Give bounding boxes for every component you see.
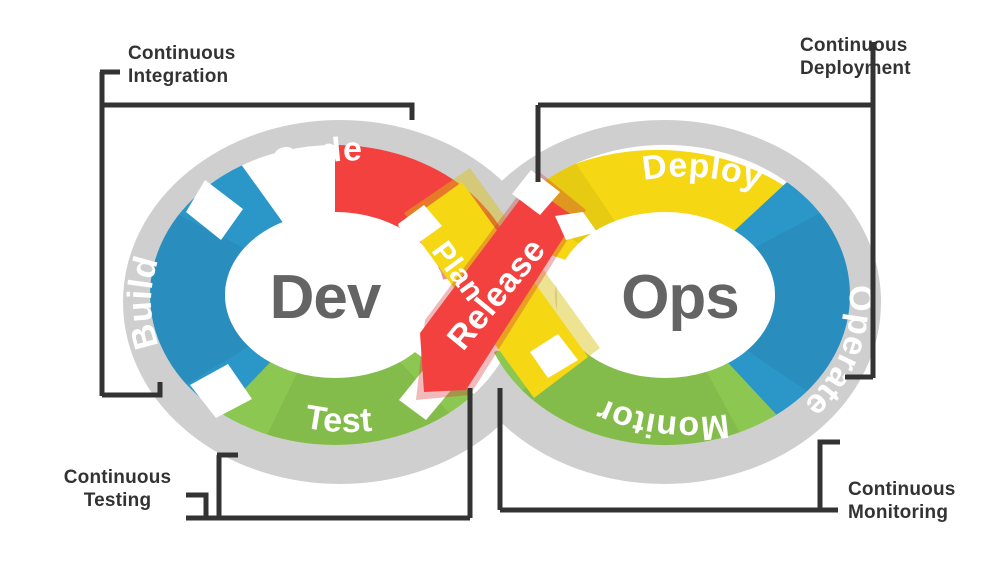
stage-label-test: Test xyxy=(303,398,374,440)
bracket-ct-step xyxy=(186,495,206,518)
devops-infinity-diagram: Code Build Test Deploy Operate Monitor P… xyxy=(0,0,1000,570)
center-label-dev: Dev xyxy=(270,263,382,332)
bracket-label-continuous-testing: Continuous Testing xyxy=(50,466,185,512)
bracket-label-continuous-deployment: Continuous Deployment xyxy=(800,34,911,80)
center-label-ops: Ops xyxy=(621,263,739,332)
bracket-label-continuous-monitoring: Continuous Monitoring xyxy=(848,478,956,524)
bracket-label-continuous-integration: Continuous Integration xyxy=(128,42,236,88)
bracket-cm-right-step xyxy=(820,442,840,510)
bracket-ci-top-arm xyxy=(102,105,412,120)
